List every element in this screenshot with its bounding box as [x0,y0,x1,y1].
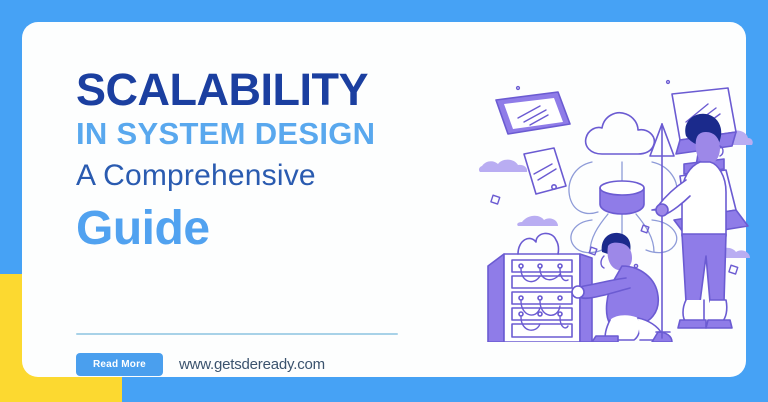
cta-row: Read More www.getsdeready.com [76,353,325,376]
smartphone-device [479,148,566,194]
site-url-text: www.getsdeready.com [179,356,325,373]
headline-guide: Guide [76,204,456,254]
read-more-button[interactable]: Read More [76,353,163,376]
cloud-icon [586,113,655,154]
section-divider [76,333,398,335]
tablet-device [496,92,570,134]
content-card: SCALABILITY IN SYSTEM DESIGN A Comprehen… [22,22,746,377]
database-cylinder [600,181,644,214]
cloud-scalability-illustration: .ln { fill:none; stroke:#6B5BD2; stroke-… [474,70,754,342]
headline-primary: SCALABILITY [76,66,456,113]
banner-root: SCALABILITY IN SYSTEM DESIGN A Comprehen… [0,0,768,402]
headline-secondary: IN SYSTEM DESIGN [76,116,456,152]
headline-tagline: A Comprehensive [76,158,456,194]
headline-group: SCALABILITY IN SYSTEM DESIGN A Comprehen… [76,66,456,254]
